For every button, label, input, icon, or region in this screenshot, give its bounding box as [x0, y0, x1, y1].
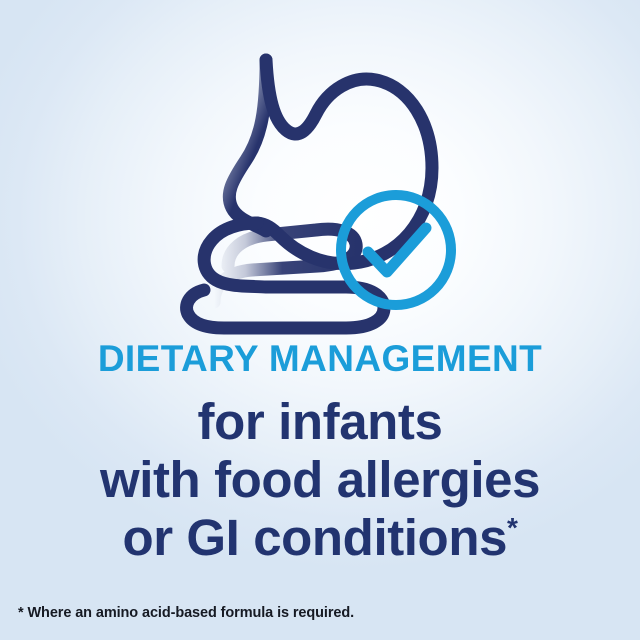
intestine-inner-path	[187, 290, 204, 314]
headline-line-3: or GI conditions*	[8, 509, 632, 567]
page-title: for infants with food allergies or GI co…	[0, 393, 640, 567]
stomach-intestine-check-icon	[170, 44, 470, 336]
headline-line-1: for infants	[8, 393, 632, 451]
poster-canvas: DIETARY MANAGEMENT for infants with food…	[0, 0, 640, 640]
stomach-body-path	[229, 60, 266, 231]
headline-line-3-text: or GI conditions	[122, 509, 507, 566]
headline-asterisk: *	[507, 512, 518, 543]
eyebrow-heading: DIETARY MANAGEMENT	[0, 340, 640, 379]
text-block: DIETARY MANAGEMENT for infants with food…	[0, 340, 640, 567]
footnote-text: * Where an amino acid-based formula is r…	[18, 604, 622, 623]
icon-block	[0, 44, 640, 336]
headline-line-2: with food allergies	[8, 451, 632, 509]
